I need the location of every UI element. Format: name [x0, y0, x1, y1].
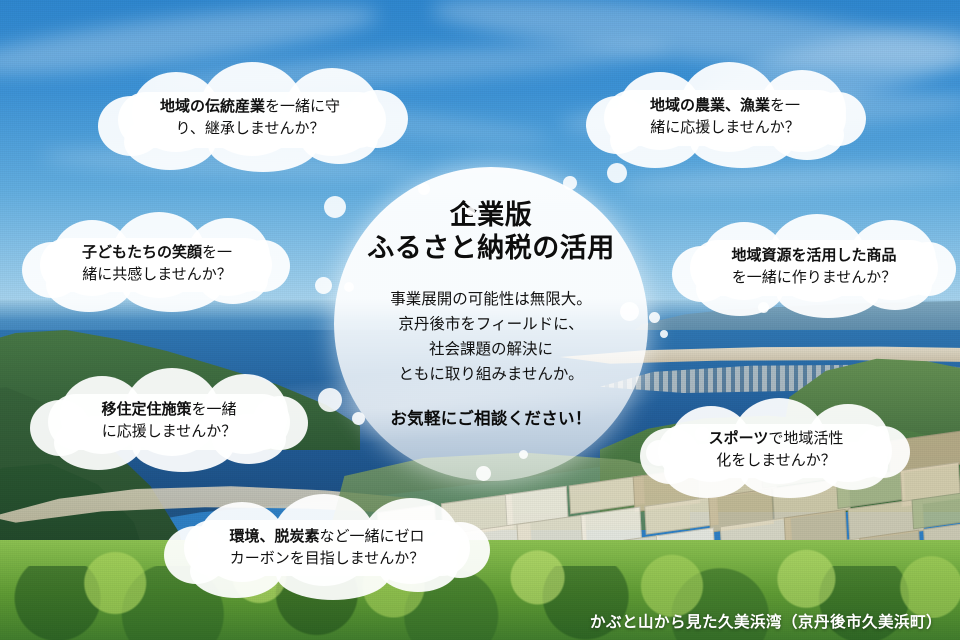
bubble-agriculture-fishery[interactable]: 地域の農業、漁業を一 緒に応援しませんか？ [580, 62, 870, 172]
poster-stage: 企業版 ふるさと納税の活用 事業展開の可能性は無限大。 京丹後市をフィールドに、… [0, 0, 960, 640]
bubble-line1: 地域の農業、漁業を一 [650, 95, 800, 118]
decor-dot [418, 183, 430, 195]
bubble-line1: 地域の伝統産業を一緒に守 [160, 96, 340, 119]
bubble-line2: 緒に共感しませんか？ [82, 264, 232, 287]
center-cta-text: お気軽にご相談ください！ [390, 405, 591, 429]
decor-dot [519, 450, 528, 459]
bubble-line1: 移住定住施策を一緒 [101, 399, 236, 422]
bubble-rest: を一 [202, 244, 232, 261]
bubble-line1: 地域資源を活用した商品 [731, 245, 896, 268]
decor-dot [620, 302, 639, 321]
bubble-bold: スポーツ [709, 430, 769, 447]
bubble-text: 地域資源を活用した商品 を一緒に作りませんか？ [668, 214, 960, 320]
bubble-rest: を一緒に守 [265, 98, 340, 115]
center-body-line1: 事業展開の可能性は無限大。 [390, 287, 592, 312]
decor-dot [344, 282, 354, 292]
bubble-migration-settlement[interactable]: 移住定住施策を一緒 に応援しませんか？ [26, 368, 312, 474]
bubble-bold: 子どもたちの笑顔 [82, 244, 202, 261]
bubble-bold: 地域の伝統産業 [160, 98, 265, 115]
bubble-text: スポーツで地域活性 化をしませんか？ [636, 398, 916, 502]
bubble-traditional-industry[interactable]: 地域の伝統産業を一緒に守 り、継承しませんか？ [88, 62, 412, 174]
decor-dot [352, 412, 365, 425]
bubble-text: 地域の農業、漁業を一 緒に応援しませんか？ [580, 62, 870, 172]
photo-caption: かぶと山から見た久美浜湾（京丹後市久美浜町） [590, 610, 942, 632]
decor-dot [466, 207, 475, 216]
center-title-line2: ふるさと納税の活用 [367, 232, 615, 265]
decor-dot [660, 330, 668, 338]
bubble-rest: で地域活性 [768, 430, 843, 447]
bubble-line2: を一緒に作りませんか？ [732, 267, 897, 290]
bubble-line1: スポーツで地域活性 [709, 428, 844, 451]
bubble-local-resource-products[interactable]: 地域資源を活用した商品 を一緒に作りませんか？ [668, 214, 960, 320]
bubble-bold: 環境、脱炭素 [229, 528, 319, 545]
decor-dot [563, 176, 577, 190]
bubble-children-smiles[interactable]: 子どもたちの笑顔を一 緒に共感しませんか？ [18, 212, 296, 316]
bubble-text: 子どもたちの笑顔を一 緒に共感しませんか？ [18, 212, 296, 316]
decor-dot [324, 196, 346, 218]
bubble-sports-revitalization[interactable]: スポーツで地域活性 化をしませんか？ [636, 398, 916, 502]
bubble-line1: 環境、脱炭素など一緒にゼロ [229, 526, 424, 549]
bubble-line2: カーボンを目指しませんか？ [230, 548, 425, 571]
center-body: 事業展開の可能性は無限大。 京丹後市をフィールドに、 社会課題の解決に ともに取… [390, 287, 592, 387]
center-title-line1: 企業版 [367, 199, 615, 232]
bubble-text: 地域の伝統産業を一緒に守 り、継承しませんか？ [88, 62, 412, 174]
center-body-line2: 京丹後市をフィールドに、 [390, 312, 592, 337]
bubble-zero-carbon[interactable]: 環境、脱炭素など一緒にゼロ カーボンを目指しませんか？ [158, 494, 496, 602]
center-title: 企業版 ふるさと納税の活用 [367, 199, 615, 265]
bubble-line2: 緒に応援しませんか？ [650, 117, 800, 140]
center-body-line4: ともに取り組みませんか。 [390, 362, 592, 387]
bubble-line1: 子どもたちの笑顔を一 [82, 242, 232, 265]
bubble-rest: を一 [770, 97, 800, 114]
bubble-line2: に応援しませんか？ [102, 421, 237, 444]
center-content: 企業版 ふるさと納税の活用 事業展開の可能性は無限大。 京丹後市をフィールドに、… [334, 167, 648, 481]
bubble-rest: など一緒にゼロ [320, 528, 425, 545]
decor-dot [476, 466, 491, 481]
decor-dot [315, 277, 332, 294]
bubble-text: 移住定住施策を一緒 に応援しませんか？ [26, 368, 312, 474]
decor-dot [318, 388, 342, 412]
decor-dot [649, 312, 660, 323]
bubble-line2: り、継承しませんか？ [176, 118, 325, 141]
bubble-line2: 化をしませんか？ [716, 450, 836, 473]
bubble-rest: を一緒 [192, 401, 237, 418]
bubble-bold: 地域の農業、漁業 [650, 97, 770, 114]
bubble-bold: 移住定住施策 [101, 401, 191, 418]
center-body-line3: 社会課題の解決に [390, 337, 592, 362]
bubble-bold: 地域資源を活用した商品 [731, 247, 896, 264]
bubble-text: 環境、脱炭素など一緒にゼロ カーボンを目指しませんか？ [158, 494, 496, 602]
